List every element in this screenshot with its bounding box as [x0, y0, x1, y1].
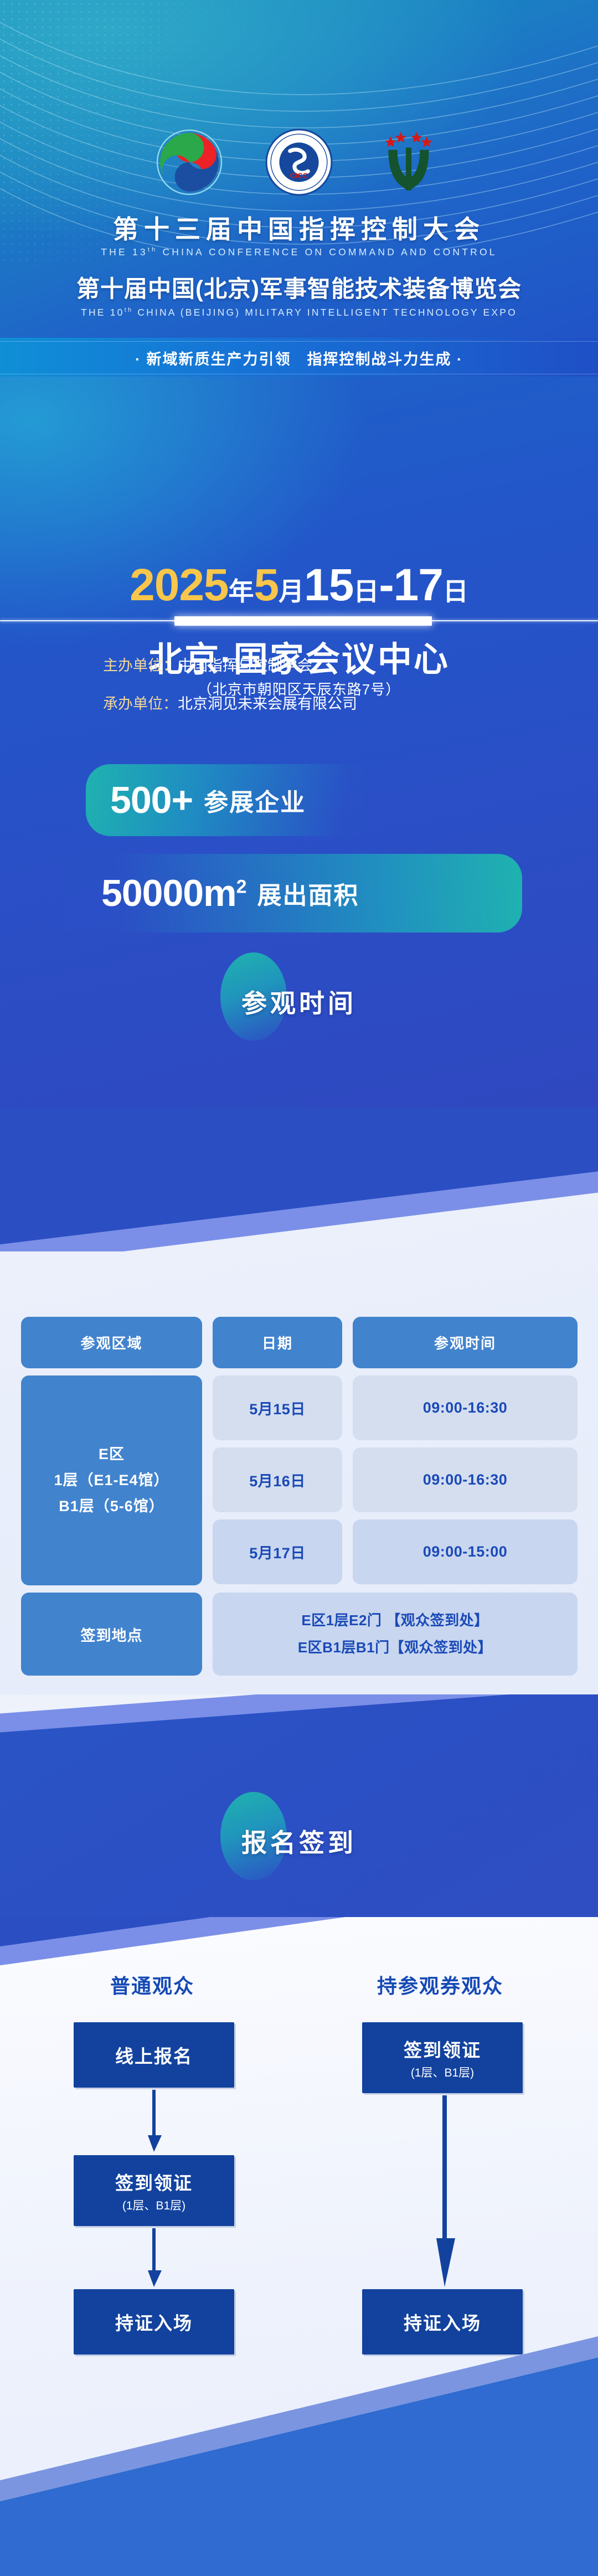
table-time-column: 09:00-16:30 09:00-16:30 09:00-15:00 [353, 1375, 578, 1585]
visit-time-heading: 参观时间 [0, 983, 598, 1020]
sub-title-cn: 第十届中国(北京)军事智能技术装备博览会 [0, 270, 598, 304]
table-cell-date: 5月16日 [213, 1447, 342, 1512]
area-line-1: E区 [99, 1441, 125, 1467]
stat-area: 50000m2 展出面积 [63, 854, 522, 932]
table-cell-area: E区 1层（E1-E4馆） B1层（5-6馆） [21, 1375, 202, 1585]
visit-time-heading-text: 参观时间 [0, 983, 598, 1020]
event-info-section: 2025年5月15日-17日 北京·国家会议中心 （北京市朝阳区天辰东路7号） … [0, 377, 598, 1107]
stat-exhibitors-label: 参展企业 [204, 782, 306, 818]
top-wedge-decoration [0, 1107, 598, 1251]
organizer-block: 主办单位：中国指挥与控制学会 承办单位：北京洞见未来会展有限公司 [103, 653, 357, 730]
stat-exhibitors: 500+ 参展企业 [86, 764, 363, 836]
table-header-row: 参观区域 日期 参观时间 [21, 1317, 578, 1368]
main-title-en: THE 13th CHINA CONFERENCE ON COMMAND AND… [0, 246, 598, 258]
table-cell-time: 09:00-16:30 [353, 1447, 578, 1512]
signin-line-1: E区1层E2门 【观众签到处】 [301, 1607, 488, 1634]
table-cell-signin-value: E区1层E2门 【观众签到处】 E区B1层B1门【观众签到处】 [213, 1593, 578, 1676]
cicc-seal-logo-icon: CICC [265, 128, 333, 196]
reg-top-wedge [0, 1694, 598, 1756]
conference-titles: 第十三届中国指挥控制大会 THE 13th CHINA CONFERENCE O… [0, 214, 598, 318]
flow-arrow-down-icon [143, 2228, 165, 2289]
flow-step-sublabel: (1层、B1层) [411, 2064, 474, 2080]
expo-shield-logo-icon [375, 128, 442, 196]
table-cell-time: 09:00-15:00 [353, 1519, 578, 1584]
event-date: 2025年5月15日-17日 [0, 559, 598, 611]
signin-line-2: E区B1层B1门【观众签到处】 [298, 1634, 492, 1661]
section-divider [0, 614, 598, 628]
stat-exhibitors-number: 500+ [110, 779, 193, 822]
table-header-area: 参观区域 [21, 1317, 202, 1368]
schedule-table: 参观区域 日期 参观时间 E区 1层（E1-E4馆） B1层（5-6馆） 5月1… [21, 1317, 578, 1683]
table-cell-date: 5月17日 [213, 1519, 342, 1584]
table-date-column: 5月15日 5月16日 5月17日 [213, 1375, 342, 1585]
slogan-text: · 新域新质生产力引领 指挥控制战斗力生成 · [135, 347, 463, 369]
cicc-swirl-logo-icon [156, 128, 223, 196]
table-header-time: 参观时间 [353, 1317, 578, 1368]
table-header-date: 日期 [213, 1317, 342, 1368]
visit-schedule-section: 参观区域 日期 参观时间 E区 1层（E1-E4馆） B1层（5-6馆） 5月1… [0, 1107, 598, 1694]
bottom-wedge-decoration [0, 2288, 598, 2576]
flow-arrow-down-long-icon [429, 2095, 462, 2289]
event-poster: CICC 第十三届中国指挥控制大会 THE 13th CHINA CONFERE… [0, 0, 598, 2576]
flow-step-label: 签到领证 [115, 2168, 193, 2195]
flow-column-general: 普通观众 [72, 1970, 233, 1999]
registration-heading-text: 报名签到 [0, 1823, 598, 1859]
area-line-2: 1层（E1-E4馆） [54, 1467, 169, 1493]
flow-step-box: 线上报名 [74, 2022, 234, 2088]
undertaker-row: 承办单位：北京洞见未来会展有限公司 [103, 692, 357, 713]
table-cell-signin-label: 签到地点 [21, 1593, 202, 1676]
flow-column-title: 普通观众 [72, 1970, 233, 1999]
poster-banner: CICC 第十三届中国指挥控制大会 THE 13th CHINA CONFERE… [0, 0, 598, 377]
flow-step-box: 签到领证 (1层、B1层) [74, 2155, 234, 2226]
svg-text:CICC: CICC [290, 171, 308, 179]
flow-arrow-down-icon [143, 2090, 165, 2154]
flow-step-label: 签到领证 [404, 2036, 481, 2062]
flow-step-sublabel: (1层、B1层) [122, 2197, 185, 2213]
registration-heading-section: 报名签到 [0, 1694, 598, 1917]
registration-heading: 报名签到 [0, 1823, 598, 1859]
flow-column-title: 持参观券观众 [360, 1970, 520, 1999]
stat-area-label: 展出面积 [257, 875, 359, 911]
slogan-band: · 新域新质生产力引领 指挥控制战斗力生成 · [0, 338, 598, 377]
sub-title-en: THE 10th CHINA (BEIJING) MILITARY INTELL… [0, 307, 598, 318]
flow-column-ticket: 持参观券观众 [360, 1970, 520, 1999]
table-cell-date: 5月15日 [213, 1375, 342, 1440]
flow-step-label: 线上报名 [115, 2042, 193, 2068]
stat-area-number: 50000m2 [101, 872, 246, 915]
registration-flow-section: 普通观众 线上报名 签到领证 (1层、B1层) 持证入场 持参观券观众 签到领证… [0, 1917, 598, 2576]
table-body-row: E区 1层（E1-E4馆） B1层（5-6馆） 5月15日 5月16日 5月17… [21, 1375, 578, 1585]
arc-lines-decoration [0, 0, 598, 249]
organization-logos: CICC [0, 128, 598, 196]
organizer-row: 主办单位：中国指挥与控制学会 [103, 653, 357, 675]
table-signin-row: 签到地点 E区1层E2门 【观众签到处】 E区B1层B1门【观众签到处】 [21, 1593, 578, 1676]
table-cell-time: 09:00-16:30 [353, 1375, 578, 1440]
main-title-cn: 第十三届中国指挥控制大会 [0, 214, 598, 245]
area-line-3: B1层（5-6馆） [59, 1493, 164, 1519]
flow-step-box: 签到领证 (1层、B1层) [362, 2022, 523, 2093]
